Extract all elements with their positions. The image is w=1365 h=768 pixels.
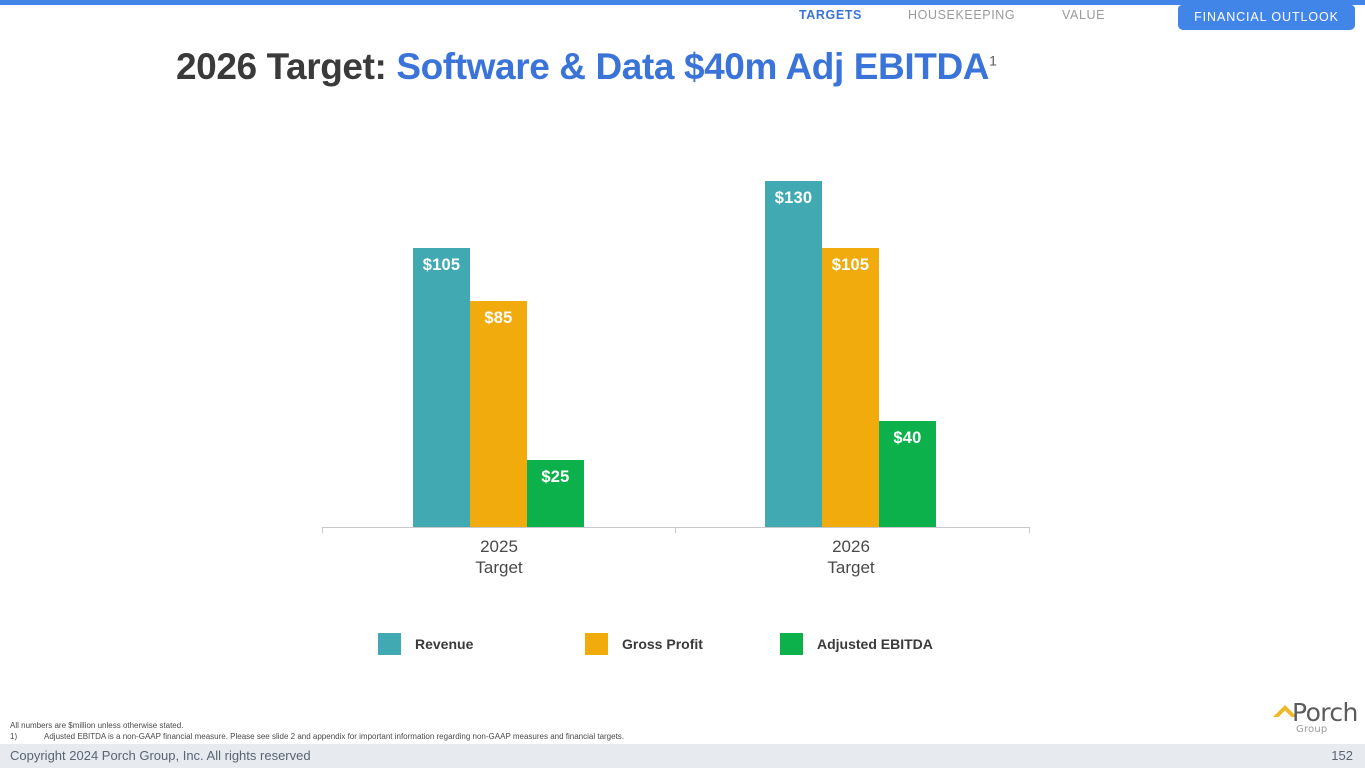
tab-targets[interactable]: TARGETS — [799, 5, 862, 25]
category-label-2026: 2026 Target — [765, 536, 937, 578]
slide: TARGETS HOUSEKEEPING VALUE FINANCIAL OUT… — [0, 0, 1365, 768]
chart-plot-area: $105 $85 $25 $130 $105 $40 — [322, 150, 1030, 528]
logo-subtext: Group — [1296, 724, 1327, 735]
page-title: 2026 Target: Software & Data $40m Adj EB… — [176, 46, 996, 88]
page-number: 152 — [1331, 748, 1353, 763]
category-label-2025: 2025 Target — [413, 536, 585, 578]
bar-adjusted-ebitda-2026[interactable]: $40 — [879, 421, 936, 527]
legend-label: Gross Profit — [622, 636, 703, 652]
legend-swatch-gross-profit — [585, 633, 608, 655]
tab-value[interactable]: VALUE — [1062, 5, 1105, 25]
footnotes: All numbers are $million unless otherwis… — [10, 721, 1010, 742]
bar-value-label: $40 — [879, 429, 936, 448]
legend-item-adjusted-ebitda[interactable]: Adjusted EBITDA — [780, 633, 933, 655]
bar-revenue-2026[interactable]: $130 — [765, 181, 822, 527]
bar-gross-profit-2026[interactable]: $105 — [822, 248, 879, 528]
footnote-units: All numbers are $million unless otherwis… — [10, 721, 1010, 732]
axis-tick-right — [1029, 527, 1030, 533]
legend-item-revenue[interactable]: Revenue — [378, 633, 473, 655]
bar-chart: $105 $85 $25 $130 $105 $40 — [322, 150, 1030, 530]
top-navigation: TARGETS HOUSEKEEPING VALUE FINANCIAL OUT… — [0, 5, 1365, 27]
legend-label: Adjusted EBITDA — [817, 636, 933, 652]
financial-outlook-badge[interactable]: FINANCIAL OUTLOOK — [1178, 5, 1355, 30]
title-superscript: 1 — [989, 53, 996, 69]
bar-value-label: $105 — [822, 256, 879, 275]
bar-group-2025: $105 $85 $25 — [413, 149, 585, 527]
porch-group-logo: Porch Group — [1272, 700, 1360, 742]
bar-adjusted-ebitda-2025[interactable]: $25 — [527, 460, 584, 527]
bar-revenue-2025[interactable]: $105 — [413, 248, 470, 528]
bar-value-label: $130 — [765, 189, 822, 208]
title-accent: Software & Data $40m Adj EBITDA — [396, 46, 989, 87]
category-label-line1: 2025 — [413, 536, 585, 557]
footer-bar: Copyright 2024 Porch Group, Inc. All rig… — [0, 744, 1365, 768]
footnote-marker: 1) — [10, 732, 44, 743]
axis-tick-middle — [675, 527, 676, 533]
legend-swatch-revenue — [378, 633, 401, 655]
logo-wordmark: Porch — [1292, 698, 1358, 727]
bar-value-label: $105 — [413, 256, 470, 275]
bar-value-label: $85 — [470, 309, 527, 328]
category-label-line1: 2026 — [765, 536, 937, 557]
copyright-text: Copyright 2024 Porch Group, Inc. All rig… — [10, 748, 311, 763]
bar-value-label: $25 — [527, 468, 584, 487]
axis-tick-left — [322, 527, 323, 533]
footnote-text: Adjusted EBITDA is a non-GAAP financial … — [44, 732, 624, 743]
title-lead: 2026 Target: — [176, 46, 396, 87]
chart-legend: Revenue Gross Profit Adjusted EBITDA — [378, 633, 978, 657]
tab-housekeeping[interactable]: HOUSEKEEPING — [908, 5, 1015, 25]
bar-group-2026: $130 $105 $40 — [765, 149, 937, 527]
bar-gross-profit-2025[interactable]: $85 — [470, 301, 527, 527]
legend-swatch-adjusted-ebitda — [780, 633, 803, 655]
footnote-1: 1) Adjusted EBITDA is a non-GAAP financi… — [10, 732, 1010, 743]
legend-label: Revenue — [415, 636, 473, 652]
legend-item-gross-profit[interactable]: Gross Profit — [585, 633, 703, 655]
category-label-line2: Target — [765, 557, 937, 578]
category-label-line2: Target — [413, 557, 585, 578]
x-axis-line — [322, 527, 1030, 528]
